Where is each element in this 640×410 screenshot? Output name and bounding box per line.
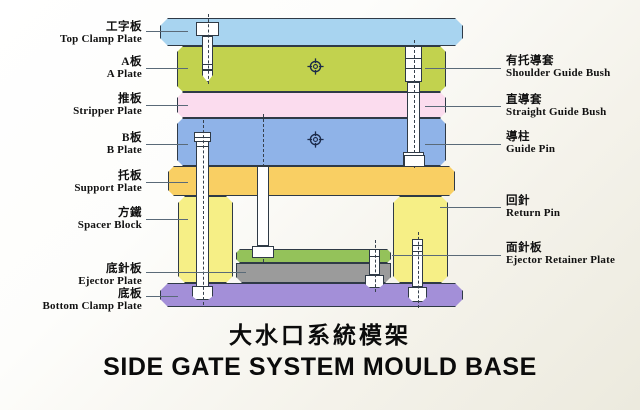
part-support-plate [168,166,455,196]
label-shoulder-guide-bush: 有托導套 Shoulder Guide Bush [506,56,610,79]
support-plate-screw-head [404,155,425,167]
leader-guide-pin [425,144,501,145]
title-chinese: 大水口系統模架 [0,316,640,350]
label-support-plate-en: Support Plate [74,183,142,194]
label-guide-pin: 導柱 Guide Pin [506,132,555,155]
label-top-clamp-plate-en: Top Clamp Plate [60,34,142,45]
label-top-clamp-plate: 工字板 Top Clamp Plate [60,22,142,45]
leader-stripper-plate [146,105,188,106]
part-a-plate-right [419,46,446,92]
label-a-plate-en: A Plate [107,69,142,80]
bush-split-line-3 [407,92,420,93]
leader-return-pin [440,207,501,208]
guide-pin-left-centerline [203,120,204,305]
return-pin-ring [369,256,380,257]
leader-bottom-clamp-plate [146,296,178,297]
label-b-plate: B板 B Plate [107,133,142,156]
label-return-pin: 回針 Return Pin [506,196,560,219]
datum-target-a-plate [307,58,324,75]
bush-split-line-1 [405,58,422,59]
guide-pin-left-ring2 [196,146,209,147]
title-english: SIDE GATE SYSTEM MOULD BASE [0,353,640,382]
leader-ejector-plate [146,272,246,273]
leader-straight-guide-bush [425,106,501,107]
bottom-clamp-screw-centerline [418,232,419,308]
part-stripper-plate-right [419,92,446,118]
label-b-plate-en: B Plate [107,145,142,156]
leader-top-clamp-plate [146,31,188,32]
bottom-clamp-screw-ring2 [412,251,423,252]
datum-target-b-plate [307,131,324,148]
center-ejector-collar [252,246,274,258]
label-stripper-plate-en: Stripper Plate [73,106,142,117]
label-stripper-plate: 推板 Stripper Plate [73,94,142,117]
label-straight-guide-bush-en: Straight Guide Bush [506,107,606,118]
label-return-pin-en: Return Pin [506,208,560,219]
leader-a-plate [146,68,188,69]
label-bottom-clamp-plate-en: Bottom Clamp Plate [42,301,142,312]
label-a-plate: A板 A Plate [107,57,142,80]
guide-pin-left-ring1 [194,137,211,138]
label-spacer-block: 方鐵 Spacer Block [78,208,142,231]
socket-screw-top-ring [202,64,213,65]
bush-split-line-2 [405,68,422,69]
label-support-plate: 托板 Support Plate [74,171,142,194]
label-bottom-clamp-plate: 底板 Bottom Clamp Plate [42,289,142,312]
label-ejector-retainer-plate-en: Ejector Retainer Plate [506,255,615,266]
diagram-canvas: 工字板 Top Clamp Plate A板 A Plate 推板 Stripp… [0,0,640,410]
socket-screw-top-centerline [208,14,209,84]
leader-b-plate [146,144,188,145]
part-b-plate [177,118,408,166]
label-guide-pin-en: Guide Pin [506,144,555,155]
label-shoulder-guide-bush-en: Shoulder Guide Bush [506,68,610,79]
leader-shoulder-guide-bush [425,68,501,69]
label-ejector-plate-en: Ejector Plate [78,276,142,287]
label-straight-guide-bush: 直導套 Straight Guide Bush [506,95,606,118]
label-ejector-plate: 底針板 Ejector Plate [78,264,142,287]
part-stripper-plate [177,92,408,118]
label-ejector-retainer-plate: 面針板 Ejector Retainer Plate [506,243,615,266]
guide-pin-right-centerline [414,40,415,168]
label-spacer-block-en: Spacer Block [78,220,142,231]
leader-support-plate [146,182,188,183]
return-pin-centerline [375,240,376,292]
diagram-title: 大水口系統模架 SIDE GATE SYSTEM MOULD BASE [0,316,640,382]
leader-ejector-retainer-plate [392,255,501,256]
leader-spacer-block [146,219,188,220]
bottom-clamp-screw-ring1 [412,245,423,246]
center-ejector-sleeve [257,166,269,246]
